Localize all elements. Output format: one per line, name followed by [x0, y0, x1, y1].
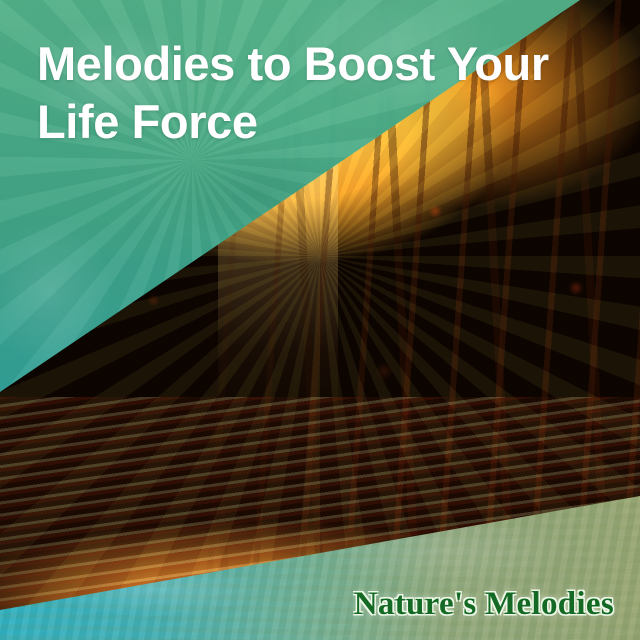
cover-title: Melodies to Boost Your Life Force [37, 35, 602, 151]
album-cover: Melodies to Boost Your Life Force Nature… [0, 0, 640, 640]
brand-name: Nature's Melodies [354, 586, 614, 623]
